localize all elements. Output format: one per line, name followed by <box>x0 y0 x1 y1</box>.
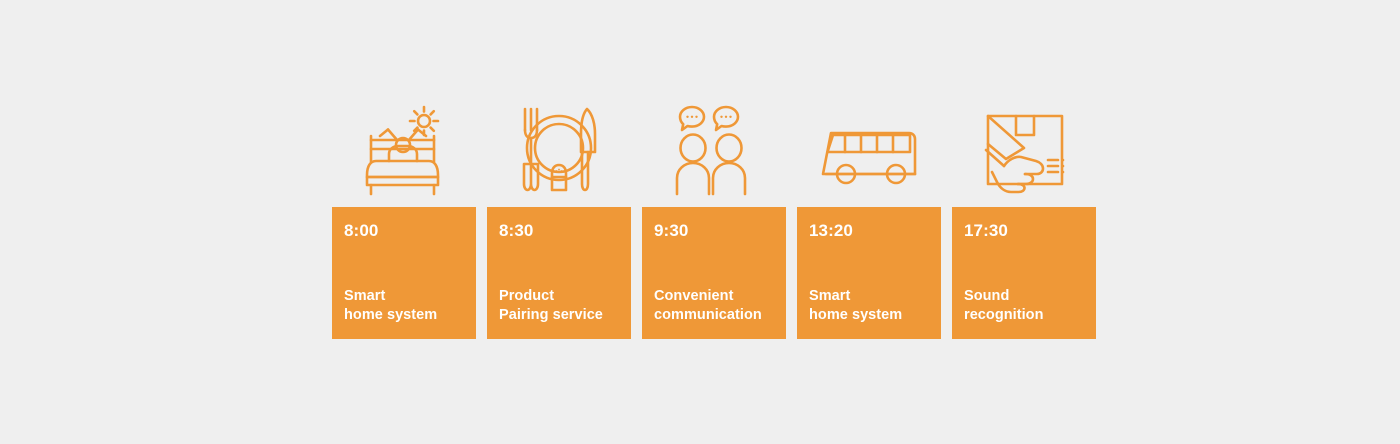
card-label: Convenient communication <box>654 287 774 327</box>
card-time: 17:30 <box>964 221 1084 241</box>
timeline-card[interactable]: 8:00 Smart home system <box>332 207 476 339</box>
bed-sunrise-icon <box>332 100 476 200</box>
card-label: Smart home system <box>344 287 464 327</box>
timeline-row: 8:00 Smart home system <box>332 100 1096 339</box>
card-time: 9:30 <box>654 221 774 241</box>
timeline-card[interactable]: 8:30 Product Pairing service <box>487 207 631 339</box>
two-people-speech-bubbles-icon <box>642 100 786 200</box>
timeline-item[interactable]: 8:00 Smart home system <box>332 100 476 339</box>
card-time: 8:00 <box>344 221 464 241</box>
timeline-card[interactable]: 9:30 Convenient communication <box>642 207 786 339</box>
card-time: 8:30 <box>499 221 619 241</box>
card-time: 13:20 <box>809 221 929 241</box>
bus-icon <box>797 100 941 200</box>
timeline-item[interactable]: 8:30 Product Pairing service <box>487 100 631 339</box>
card-label: Sound recognition <box>964 287 1084 327</box>
plate-cutlery-icon <box>487 100 631 200</box>
timeline-card[interactable]: 13:20 Smart home system <box>797 207 941 339</box>
timeline-item[interactable]: 13:20 Smart home system <box>797 100 941 339</box>
timeline-card[interactable]: 17:30 Sound recognition <box>952 207 1096 339</box>
timeline-item[interactable]: 9:30 Convenient communication <box>642 100 786 339</box>
infographic-stage: 8:00 Smart home system <box>0 0 1400 444</box>
hand-opening-box-icon <box>952 100 1096 200</box>
timeline-item[interactable]: 17:30 Sound recognition <box>952 100 1096 339</box>
card-label: Product Pairing service <box>499 287 619 327</box>
card-label: Smart home system <box>809 287 929 327</box>
